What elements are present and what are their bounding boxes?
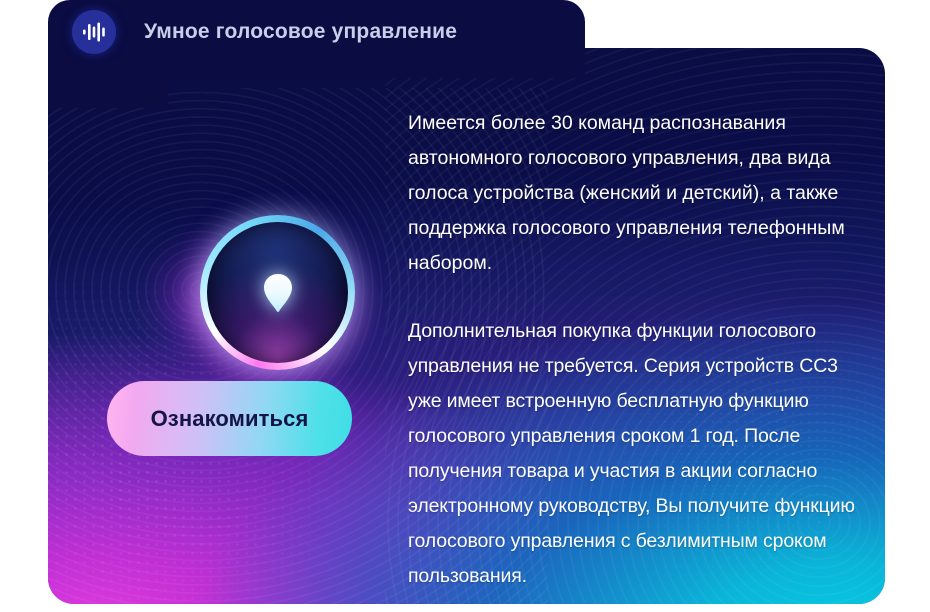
description-paragraph-1: Имеется более 30 команд распознавания ав…	[408, 106, 860, 281]
voice-waveform-icon	[72, 10, 116, 54]
header-bar: Умное голосовое управление	[48, 0, 585, 64]
location-pin-icon	[261, 272, 295, 314]
voice-assistant-orb-icon	[200, 215, 355, 370]
learn-more-button[interactable]: Ознакомиться	[107, 381, 352, 456]
description-paragraph-2: Дополнительная покупка функции голосовог…	[408, 314, 860, 594]
description-text-column: Имеется более 30 команд распознавания ав…	[408, 106, 860, 594]
promo-card-stage: Умное голосовое управление	[0, 0, 930, 612]
page-title: Умное голосовое управление	[144, 20, 457, 44]
promo-card: Ознакомиться Имеется более 30 команд рас…	[48, 48, 885, 604]
card-left-column: Ознакомиться	[48, 48, 400, 604]
